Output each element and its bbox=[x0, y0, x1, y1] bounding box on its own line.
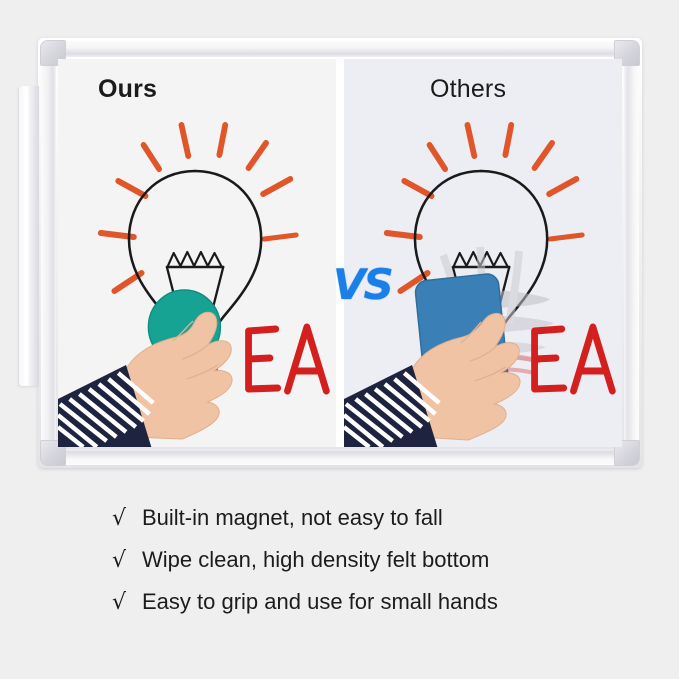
ours-artwork bbox=[58, 59, 336, 447]
frame-rail-left bbox=[41, 44, 56, 462]
others-artwork bbox=[344, 59, 622, 447]
whiteboard-surface: Ours bbox=[58, 59, 622, 447]
feature-list: √ Built-in magnet, not easy to fall √ Wi… bbox=[112, 505, 612, 631]
check-icon: √ bbox=[112, 590, 142, 615]
whiteboard: Ours bbox=[38, 38, 642, 468]
panel-divider bbox=[336, 59, 344, 447]
check-icon: √ bbox=[112, 506, 142, 531]
frame-rail-top bbox=[44, 41, 636, 57]
others-hand-and-eraser bbox=[344, 59, 622, 447]
feature-item: √ Easy to grip and use for small hands bbox=[112, 589, 612, 615]
feature-label: Built-in magnet, not easy to fall bbox=[142, 505, 443, 531]
panel-ours: Ours bbox=[58, 59, 336, 447]
feature-item: √ Built-in magnet, not easy to fall bbox=[112, 505, 612, 531]
check-icon: √ bbox=[112, 548, 142, 573]
frame-rail-right bbox=[624, 44, 639, 462]
ours-hand-and-eraser bbox=[58, 59, 336, 447]
panel-others: Others bbox=[344, 59, 622, 447]
frame-rail-bottom bbox=[44, 449, 636, 465]
feature-label: Wipe clean, high density felt bottom bbox=[142, 547, 489, 573]
vs-badge: VS bbox=[333, 260, 392, 309]
pen-tray bbox=[19, 86, 39, 386]
feature-item: √ Wipe clean, high density felt bottom bbox=[112, 547, 612, 573]
feature-label: Easy to grip and use for small hands bbox=[142, 589, 498, 615]
